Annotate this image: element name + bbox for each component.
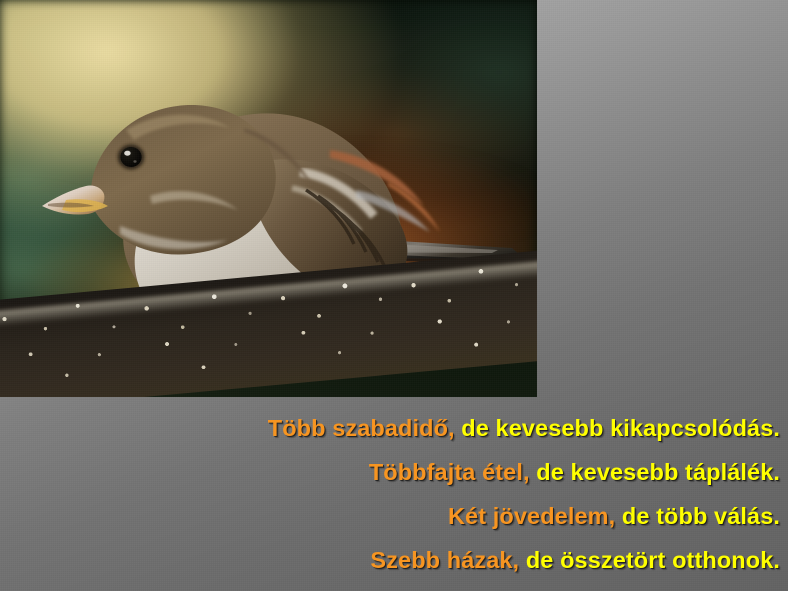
caption-line: Szebb házak, de összetört otthonok. (0, 538, 780, 582)
caption-main-text: de kevesebb táplálék. (530, 459, 780, 485)
caption-accent-text: Több szabadidő, (268, 415, 455, 441)
caption-line: Két jövedelem, de több válás. (0, 494, 780, 538)
caption-main-text: de kevesebb kikapcsolódás. (455, 415, 780, 441)
caption-accent-text: Szebb házak, (370, 547, 519, 573)
sparrow-eye (118, 144, 145, 169)
caption-accent-text: Többfajta étel, (369, 459, 530, 485)
house-sparrow-photo (0, 0, 537, 397)
caption-line: Több szabadidő, de kevesebb kikapcsolódá… (0, 406, 780, 450)
caption-block: Több szabadidő, de kevesebb kikapcsolódá… (0, 406, 780, 582)
caption-line: Többfajta étel, de kevesebb táplálék. (0, 450, 780, 494)
caption-main-text: de összetört otthonok. (519, 547, 780, 573)
presentation-slide: Több szabadidő, de kevesebb kikapcsolódá… (0, 0, 788, 591)
caption-accent-text: Két jövedelem, (448, 503, 615, 529)
caption-main-text: de több válás. (615, 503, 780, 529)
